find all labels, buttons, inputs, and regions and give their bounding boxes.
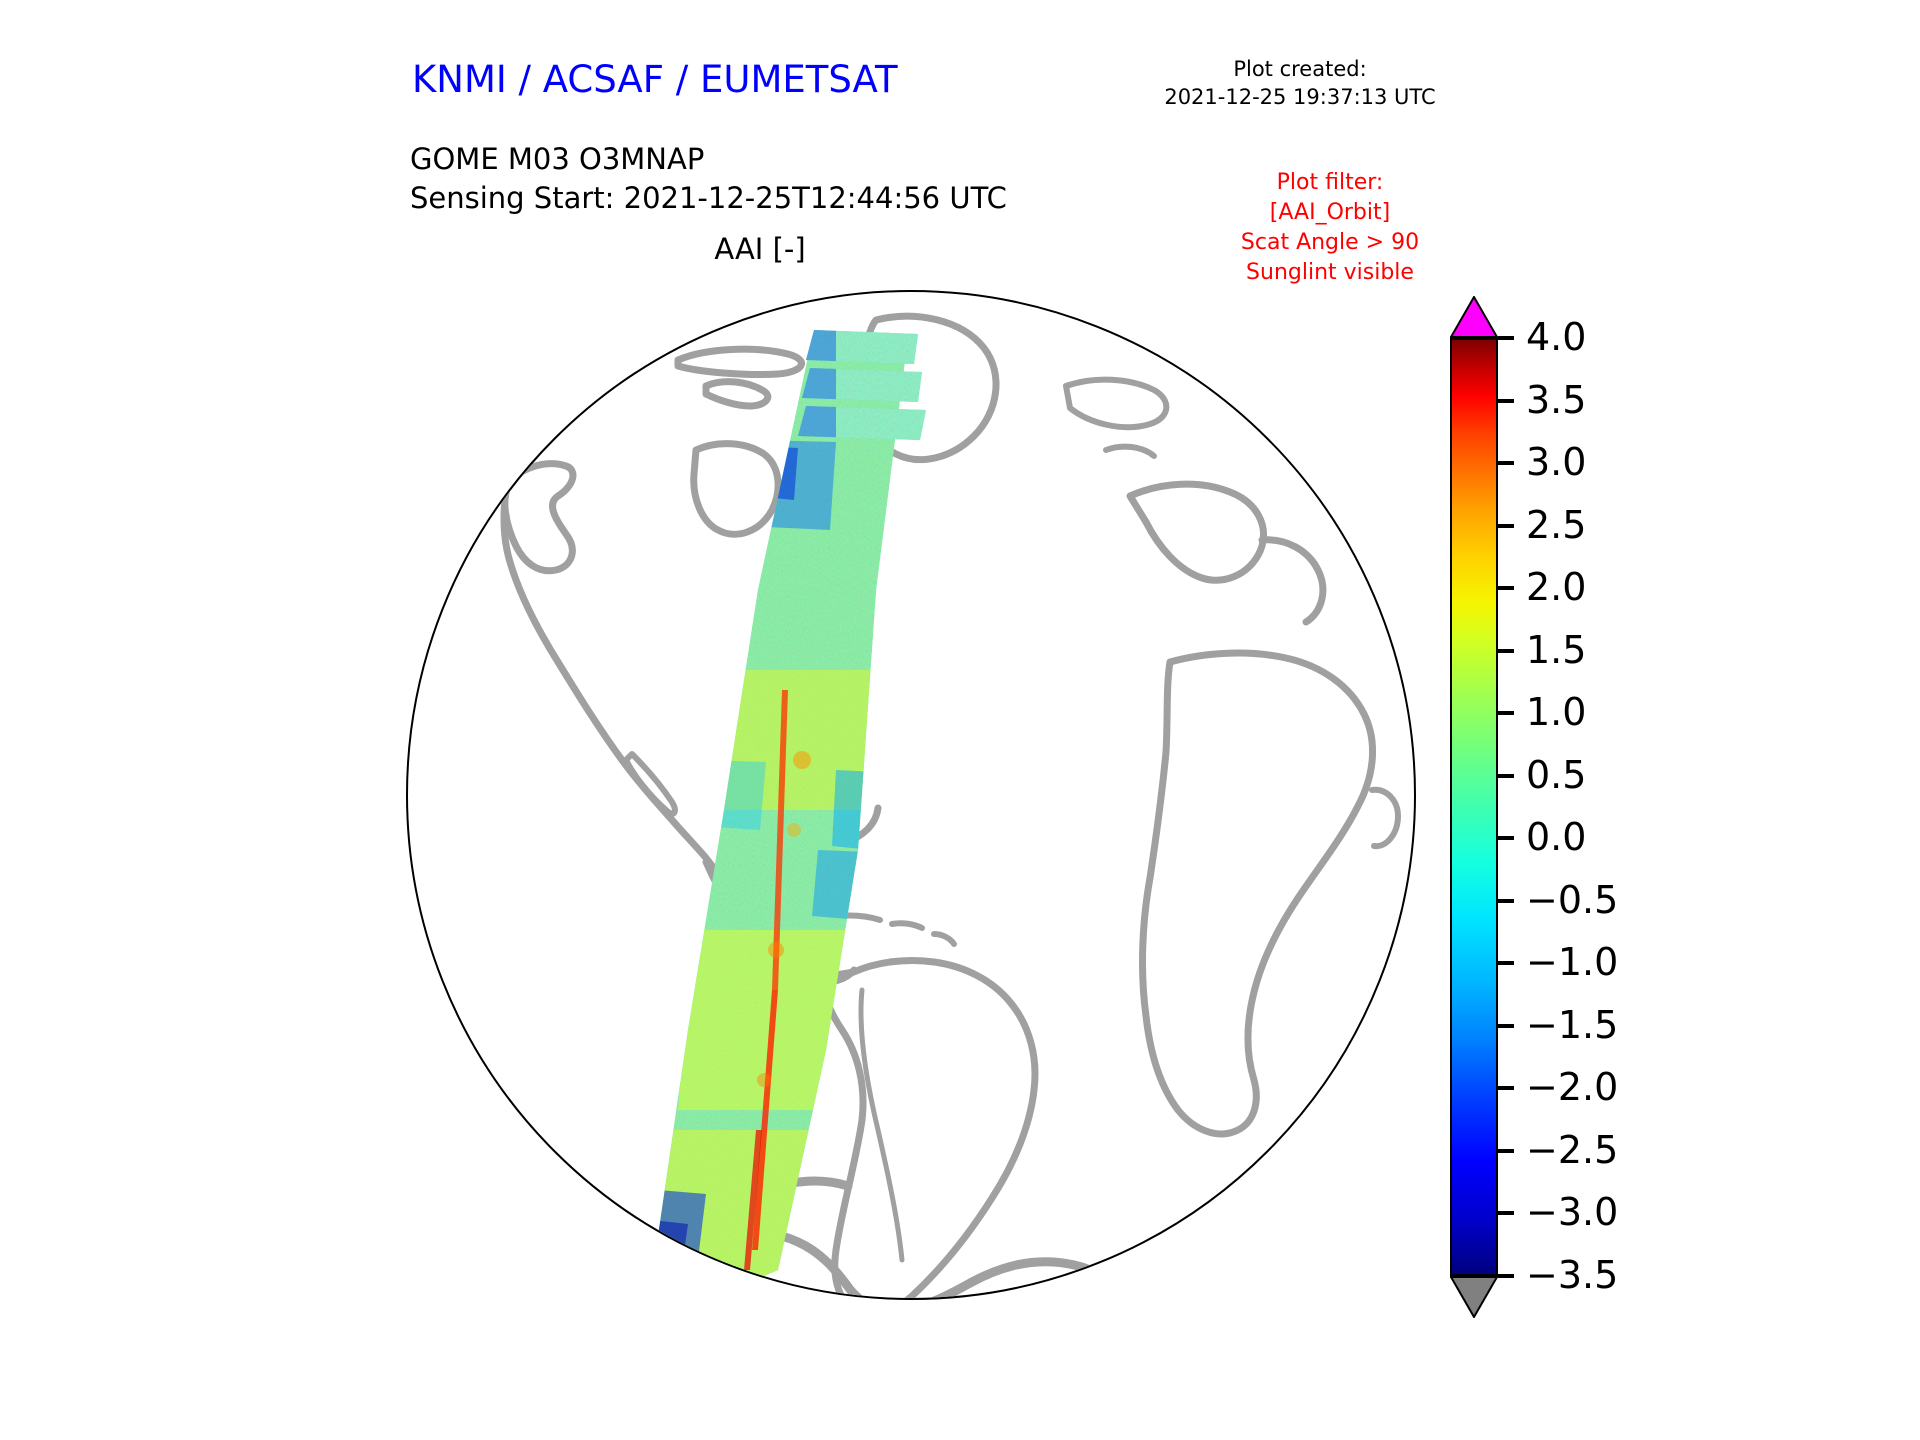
colorbar-tick-mark (1498, 711, 1514, 715)
colorbar-tick-label: 2.5 (1526, 503, 1586, 547)
colorbar-tick-list: 4.03.53.02.52.01.51.00.50.0−0.5−1.0−1.5−… (1444, 288, 1774, 1318)
colorbar-tick-mark (1498, 899, 1514, 903)
colorbar-tick-mark (1498, 1149, 1514, 1153)
colorbar-tick-label: 1.5 (1526, 628, 1586, 672)
colorbar: 4.03.53.02.52.01.51.00.50.0−0.5−1.0−1.5−… (1444, 288, 1774, 1318)
instrument-line: GOME M03 O3MNAP (410, 140, 1007, 179)
colorbar-tick-label: −2.5 (1526, 1128, 1618, 1172)
colorbar-tick-mark (1498, 961, 1514, 965)
plot-filter-block: Plot filter: [AAI_Orbit] Scat Angle > 90… (1180, 168, 1480, 289)
colorbar-tick-mark (1498, 1024, 1514, 1028)
colorbar-tick-label: −0.5 (1526, 878, 1618, 922)
colorbar-tick-label: 0.5 (1526, 753, 1586, 797)
colorbar-tick-label: −1.5 (1526, 1003, 1618, 1047)
colorbar-tick-mark (1498, 461, 1514, 465)
plot-created-timestamp: 2021-12-25 19:37:13 UTC (1100, 84, 1500, 112)
colorbar-tick-mark (1498, 1274, 1514, 1278)
plot-filter-line-3: Sunglint visible (1180, 258, 1480, 288)
colorbar-tick-label: −2.0 (1526, 1065, 1618, 1109)
sensing-start-line: Sensing Start: 2021-12-25T12:44:56 UTC (410, 179, 1007, 218)
quantity-title: AAI [-] (410, 232, 1110, 266)
plot-filter-line-2: Scat Angle > 90 (1180, 228, 1480, 258)
colorbar-tick-mark (1498, 399, 1514, 403)
plot-created-label: Plot created: (1100, 56, 1500, 84)
colorbar-tick-label: 2.0 (1526, 565, 1586, 609)
colorbar-tick-label: 3.5 (1526, 378, 1586, 422)
plot-filter-line-1: [AAI_Orbit] (1180, 198, 1480, 228)
colorbar-tick-mark (1498, 336, 1514, 340)
coastlines (504, 316, 1398, 1300)
brand-title: KNMI / ACSAF / EUMETSAT (412, 58, 898, 101)
colorbar-tick-mark (1498, 836, 1514, 840)
colorbar-tick-mark (1498, 524, 1514, 528)
colorbar-tick-mark (1498, 649, 1514, 653)
colorbar-tick-mark (1498, 586, 1514, 590)
colorbar-tick-label: −3.5 (1526, 1253, 1618, 1297)
plot-created-block: Plot created: 2021-12-25 19:37:13 UTC (1100, 56, 1500, 111)
plot-filter-heading: Plot filter: (1180, 168, 1480, 198)
globe-content (406, 290, 1416, 1300)
dataset-title-block: GOME M03 O3MNAP Sensing Start: 2021-12-2… (410, 140, 1007, 217)
colorbar-tick-label: 4.0 (1526, 315, 1586, 359)
colorbar-tick-label: 1.0 (1526, 690, 1586, 734)
globe-map (406, 290, 1416, 1300)
colorbar-tick-label: 3.0 (1526, 440, 1586, 484)
colorbar-tick-mark (1498, 1086, 1514, 1090)
colorbar-tick-mark (1498, 774, 1514, 778)
colorbar-tick-label: −3.0 (1526, 1190, 1618, 1234)
satellite-swath (644, 320, 946, 1300)
plot-canvas: KNMI / ACSAF / EUMETSAT Plot created: 20… (0, 0, 1920, 1440)
colorbar-tick-mark (1498, 1211, 1514, 1215)
colorbar-tick-label: −1.0 (1526, 940, 1618, 984)
colorbar-tick-label: 0.0 (1526, 815, 1586, 859)
